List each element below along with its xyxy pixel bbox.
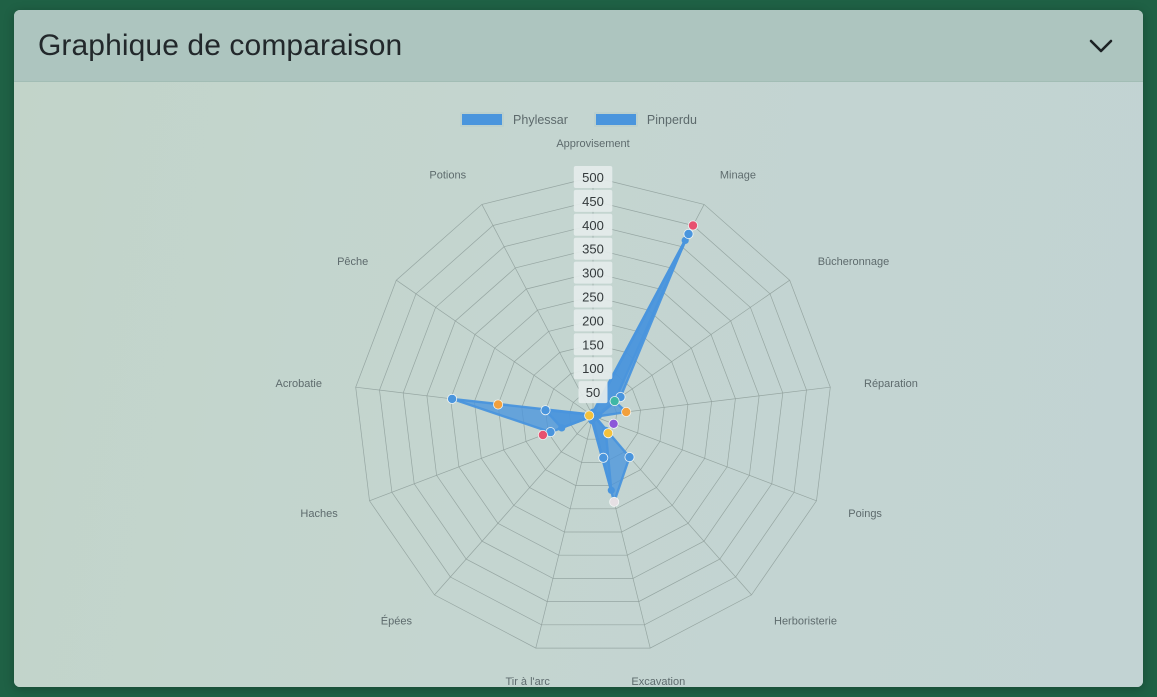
tick-label: 500 (582, 170, 604, 185)
axis-label-potions: Potions (429, 169, 466, 181)
skill-marker-dot[interactable] (610, 497, 619, 506)
skill-marker-dot[interactable] (684, 229, 693, 238)
skill-marker-dot[interactable] (604, 429, 613, 438)
panel-body: PhylessarPinperdu 5010015020025030035040… (14, 82, 1143, 687)
skill-marker-dot[interactable] (625, 453, 634, 462)
tick-label: 300 (582, 266, 604, 281)
axis-label-approvisement: Approvisement (556, 138, 629, 150)
radar-chart-canvas: 50100150200250300350400450500 Approvisem… (14, 82, 1143, 687)
axis-label-minage: Minage (720, 169, 756, 181)
skill-marker-dot[interactable] (610, 397, 619, 406)
page-title: Graphique de comparaison (38, 29, 1081, 63)
tick-label: 150 (582, 337, 604, 352)
axis-label-poings: Poings (848, 508, 882, 520)
skill-marker-dot[interactable] (494, 400, 503, 409)
axis-label-haches: Haches (300, 508, 338, 520)
series-area-1 (452, 234, 688, 502)
panel-header: Graphique de comparaison (14, 10, 1143, 82)
grid-spoke (435, 416, 594, 595)
series-point (608, 487, 615, 494)
tick-label: 350 (582, 242, 604, 257)
tick-label: 50 (586, 385, 600, 400)
tick-label: 400 (582, 218, 604, 233)
axis-label-r-paration: Réparation (864, 378, 918, 390)
axis-label-herboristerie: Herboristerie (774, 615, 837, 627)
radar-chart: PhylessarPinperdu 5010015020025030035040… (14, 82, 1143, 687)
axis-label-acrobatie: Acrobatie (276, 378, 322, 390)
series-point (558, 424, 565, 431)
skill-marker-dot[interactable] (585, 411, 594, 420)
tick-label: 450 (582, 194, 604, 209)
tick-label: 100 (582, 361, 604, 376)
skill-marker-dot[interactable] (541, 406, 550, 415)
skill-marker-dot[interactable] (448, 394, 457, 403)
skill-marker-dot[interactable] (609, 419, 618, 428)
skill-marker-dot[interactable] (599, 453, 608, 462)
axis-label--p-es: Épées (381, 614, 413, 627)
tick-label: 200 (582, 313, 604, 328)
skill-marker-dot[interactable] (538, 430, 547, 439)
axis-label-tir-l-arc: Tir à l'arc (505, 676, 550, 687)
tick-label: 250 (582, 290, 604, 305)
skill-marker-dot[interactable] (688, 221, 697, 230)
axis-label-p-che: Pêche (337, 256, 368, 268)
skill-marker-dot[interactable] (622, 407, 631, 416)
axis-label-b-cheronnage: Bûcheronnage (818, 256, 890, 268)
axis-label-excavation: Excavation (631, 676, 685, 687)
comparison-chart-panel: Graphique de comparaison PhylessarPinper… (14, 10, 1143, 687)
chevron-down-icon[interactable] (1081, 26, 1121, 66)
